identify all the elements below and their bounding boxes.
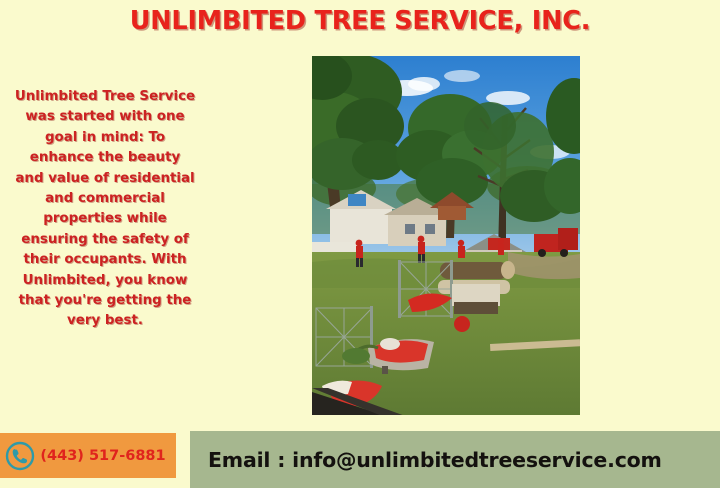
email-bar[interactable]: Email : info@unlimbitedtreeservice.com (190, 431, 720, 488)
photo-image (312, 56, 580, 415)
phone-number[interactable]: (443) 517-6881 (36, 448, 176, 464)
page-title: UNLIMBITED TREE SERVICE, INC. (0, 6, 720, 36)
intro-paragraph: Unlimbited Tree Service was started with… (14, 87, 196, 332)
phone-bar[interactable]: (443) 517-6881 (0, 433, 176, 478)
phone-icon (4, 440, 36, 472)
flyer-page: UNLIMBITED TREE SERVICE, INC. Unlimbited… (0, 0, 720, 488)
email-address[interactable]: Email : info@unlimbitedtreeservice.com (190, 448, 662, 472)
